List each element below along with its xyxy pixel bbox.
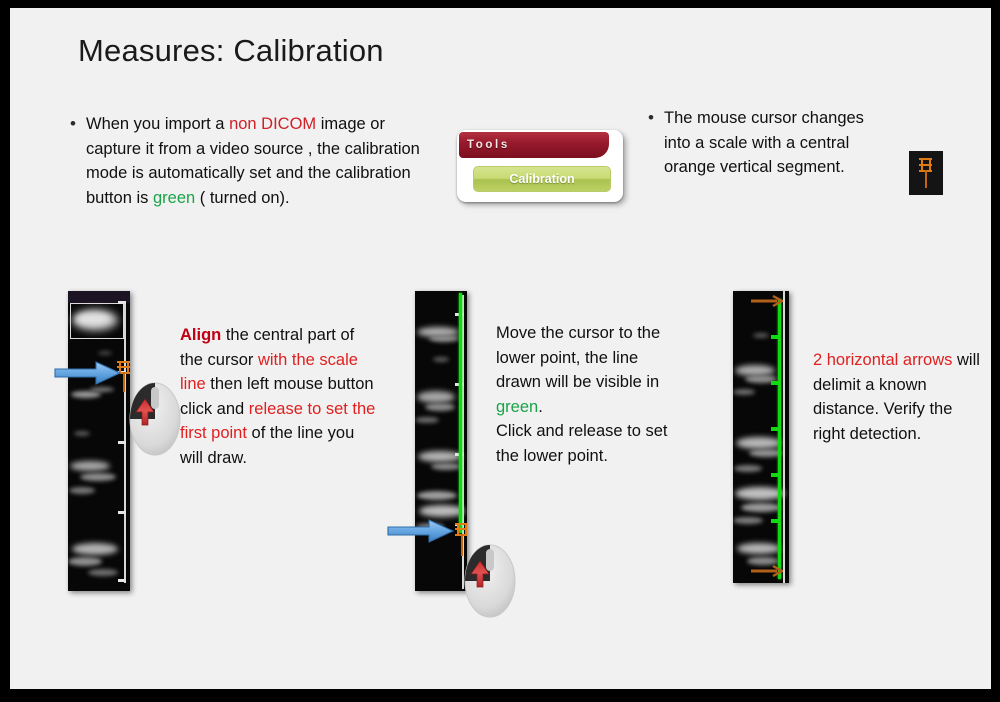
ultrasound-image bbox=[415, 291, 467, 591]
ultrasound-panel-green-line[interactable] bbox=[415, 291, 467, 591]
bullet-seg-4: ( turned on). bbox=[195, 189, 289, 207]
mouse-left-click-icon bbox=[461, 541, 521, 619]
blue-arrow-right bbox=[387, 518, 455, 544]
bullet-text: When you import a non DICOM image or cap… bbox=[86, 112, 440, 210]
ultrasound-panel-arrows[interactable] bbox=[733, 291, 789, 583]
scale-tick bbox=[118, 441, 126, 444]
mouse-left-click-icon bbox=[126, 379, 186, 457]
brown-arrow-top bbox=[751, 295, 783, 307]
bullet-marker: • bbox=[648, 106, 664, 180]
bullet-mouse-cursor-scale: • The mouse cursor changes into a scale … bbox=[648, 106, 888, 180]
page-title: Measures: Calibration bbox=[78, 33, 384, 69]
tools-panel-header: Tools bbox=[459, 132, 609, 158]
green-measure-line bbox=[778, 299, 781, 579]
step3-seg-arrows: 2 horizontal arrows bbox=[813, 351, 952, 369]
green-tick bbox=[771, 473, 780, 477]
tools-panel-body: Tools Calibration bbox=[457, 130, 623, 202]
step2-seg-green: green bbox=[496, 398, 538, 416]
ultrasound-image bbox=[68, 291, 130, 591]
green-measure-line bbox=[459, 293, 462, 533]
green-tick bbox=[771, 427, 780, 431]
scale-tick bbox=[118, 579, 126, 582]
bullet-seg-non-dicom: non DICOM bbox=[229, 115, 316, 133]
bullet-import-non-dicom: • When you import a non DICOM image or c… bbox=[70, 112, 440, 210]
scale-line bbox=[783, 291, 785, 583]
step2-seg-2: . bbox=[538, 398, 543, 416]
scale-cursor-icon bbox=[918, 158, 934, 188]
ultrasound-image bbox=[733, 291, 789, 583]
step2-seg-0: Move the cursor to the lower point, the … bbox=[496, 324, 660, 391]
step-2-text: Move the cursor to the lower point, the … bbox=[496, 321, 686, 468]
ultrasound-panel-align[interactable] bbox=[68, 291, 130, 591]
slide-canvas: Measures: Calibration • When you import … bbox=[10, 8, 991, 689]
step1-seg-align: Align bbox=[180, 326, 221, 344]
bullet-seg-green: green bbox=[153, 189, 195, 207]
bullet-text: The mouse cursor changes into a scale wi… bbox=[664, 106, 888, 180]
tools-panel: Tools Calibration bbox=[454, 128, 630, 210]
green-tick bbox=[771, 381, 780, 385]
step-3-text: 2 horizontal arrows will delimit a known… bbox=[813, 348, 983, 446]
blue-arrow-right bbox=[54, 360, 122, 386]
bullet-seg-0: When you import a bbox=[86, 115, 229, 133]
step-1-text: Align the central part of the cursor wit… bbox=[180, 323, 376, 470]
bullet-marker: • bbox=[70, 112, 86, 210]
scale-cursor-preview bbox=[909, 151, 943, 195]
calibration-button[interactable]: Calibration bbox=[473, 166, 611, 192]
scale-tick bbox=[118, 301, 126, 304]
step2-seg-3: Click and release to set the lower point… bbox=[496, 422, 668, 465]
green-tick bbox=[771, 335, 780, 339]
green-tick bbox=[771, 519, 780, 523]
brown-arrow-bottom bbox=[751, 565, 783, 577]
scale-tick bbox=[118, 511, 126, 514]
